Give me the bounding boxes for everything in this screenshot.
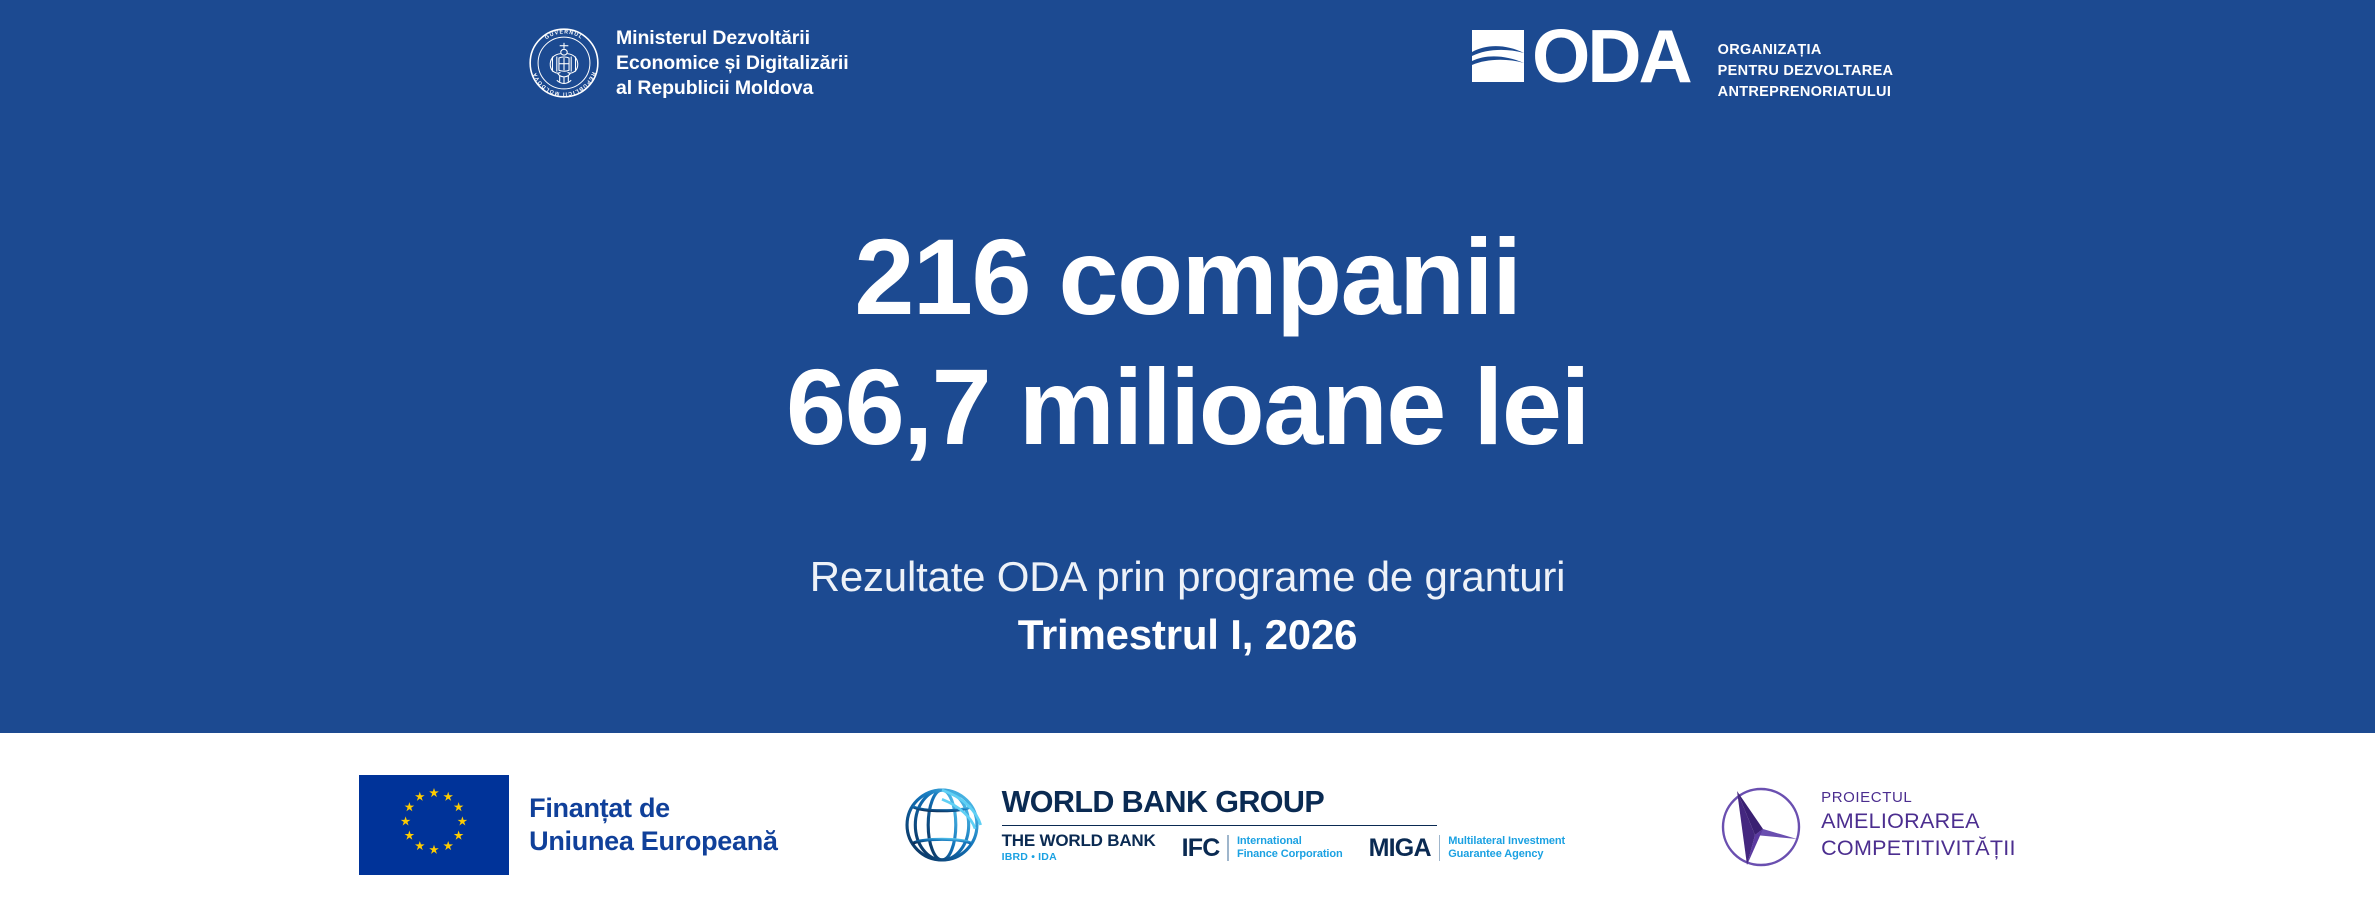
- moldova-government-seal-icon: GUVERNUL REPUBLICII MOLDOVA: [528, 27, 600, 99]
- competitiveness-project-slot: PROIECTUL AMELIORAREA COMPETITIVITĂȚII: [1711, 775, 2016, 875]
- subtitle-period: Trimestrul I, 2026: [0, 608, 2375, 662]
- oda-mark-wrap: [1472, 30, 1524, 82]
- headline-line-amount: 66,7 milioane lei: [0, 342, 2375, 472]
- project-logo-lockup: PROIECTUL AMELIORAREA COMPETITIVITĂȚII: [1711, 775, 2016, 875]
- project-text-block: PROIECTUL AMELIORAREA COMPETITIVITĂȚII: [1821, 788, 2016, 862]
- oda-results-banner: GUVERNUL REPUBLICII MOLDOVA: [0, 0, 2375, 917]
- ministry-logo-lockup: GUVERNUL REPUBLICII MOLDOVA: [528, 26, 849, 101]
- member-full: Multilateral Investment Guarantee Agency: [1448, 835, 1565, 862]
- eu-funding-text: Finanțat de Uniunea Europeană: [529, 792, 777, 858]
- world-bank-members-row: THE WORLD BANK IBRD • IDA IFC Internatio…: [1002, 832, 1592, 864]
- project-label: PROIECTUL: [1821, 788, 2016, 808]
- project-name-line2: COMPETITIVITĂȚII: [1821, 835, 2016, 862]
- member-the-world-bank: THE WORLD BANK IBRD • IDA: [1002, 832, 1156, 864]
- eu-logo-lockup: Finanțat de Uniunea Europeană: [359, 775, 777, 875]
- compass-arrow-icon: [1711, 775, 1811, 875]
- headline: 216 companii 66,7 milioane lei: [0, 212, 2375, 471]
- oda-wordmark: ODA: [1532, 26, 1690, 88]
- european-union-flag-icon: [359, 775, 509, 875]
- member-full: International Finance Corporation: [1237, 835, 1343, 862]
- project-name-line1: AMELIORAREA: [1821, 808, 2016, 835]
- member-divider: [1227, 835, 1229, 861]
- member-abbr: MIGA: [1369, 836, 1431, 861]
- member-abbr: IFC: [1182, 836, 1220, 861]
- headline-line-companies: 216 companii: [0, 212, 2375, 342]
- member-ifc: IFC International Finance Corporation: [1182, 835, 1343, 862]
- subtitle: Rezultate ODA prin programe de granturi …: [0, 550, 2375, 662]
- ministry-name: Ministerul Dezvoltării Economice și Digi…: [616, 26, 849, 101]
- header-logo-row: GUVERNUL REPUBLICII MOLDOVA: [0, 0, 2375, 150]
- subtitle-description: Rezultate ODA prin programe de granturi: [0, 550, 2375, 604]
- oda-logo-lockup: ODA ORGANIZAȚIA PENTRU DEZVOLTAREA ANTRE…: [1472, 30, 1893, 103]
- member-full: IBRD • IDA: [1002, 851, 1156, 865]
- world-bank-logo-lockup: WORLD BANK GROUP THE WORLD BANK IBRD • I…: [896, 779, 1592, 871]
- world-bank-divider: [1002, 825, 1437, 827]
- oda-tagline: ORGANIZAȚIA PENTRU DEZVOLTAREA ANTREPREN…: [1718, 40, 1894, 103]
- eu-funding-slot: Finanțat de Uniunea Europeană: [359, 775, 777, 875]
- member-abbr: THE WORLD BANK: [1002, 832, 1156, 851]
- world-bank-text-block: WORLD BANK GROUP THE WORLD BANK IBRD • I…: [1002, 786, 1592, 865]
- world-bank-slot: WORLD BANK GROUP THE WORLD BANK IBRD • I…: [896, 779, 1592, 871]
- member-miga: MIGA Multilateral Investment Guarantee A…: [1369, 835, 1565, 862]
- world-bank-globe-icon: [896, 779, 988, 871]
- member-divider: [1439, 835, 1441, 861]
- footer-partner-logos: Finanțat de Uniunea Europeană: [0, 733, 2375, 917]
- world-bank-group-title: WORLD BANK GROUP: [1002, 786, 1592, 818]
- svg-text:GUVERNUL: GUVERNUL: [544, 30, 584, 42]
- oda-wave-mark-icon: [1472, 30, 1524, 82]
